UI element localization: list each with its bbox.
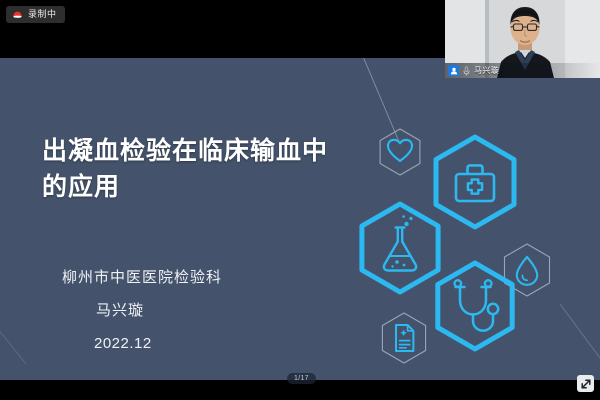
recording-badge: 录制中	[6, 6, 65, 23]
presentation-slide: 出凝血检验在临床输血中的应用 柳州市中医医院检验科 马兴璇 2022.12	[0, 58, 600, 380]
hexagon-first-aid-kit	[436, 137, 514, 227]
slide-date: 2022.12	[94, 332, 332, 356]
hexagon-heart	[380, 129, 420, 175]
microphone-icon[interactable]	[462, 65, 471, 76]
hexagon-document	[382, 313, 425, 363]
hexagon-stethoscope	[438, 263, 512, 349]
participant-name-label: 马兴璇	[474, 67, 499, 75]
hexagon-flask	[362, 204, 438, 292]
slide-department: 柳州市中医医院检验科	[62, 266, 332, 290]
hexagon-icon-cluster	[352, 120, 562, 370]
recording-dot-icon	[12, 9, 23, 20]
participant-video-tile[interactable]: 马兴璇	[445, 0, 600, 78]
screen-share-viewer: 录制中	[0, 0, 600, 400]
participant-name-bar: 马兴璇	[445, 63, 600, 78]
resize-expand-icon[interactable]	[577, 375, 594, 392]
slide-subtitle-block: 柳州市中医医院检验科 马兴璇 2022.12	[62, 266, 332, 356]
slide-page-indicator: 1/17	[287, 373, 316, 384]
slide-title: 出凝血检验在临床输血中的应用	[42, 134, 352, 205]
person-avatar-icon	[448, 65, 459, 76]
slide-presenter: 马兴璇	[96, 299, 332, 323]
recording-badge-label: 录制中	[28, 10, 57, 19]
